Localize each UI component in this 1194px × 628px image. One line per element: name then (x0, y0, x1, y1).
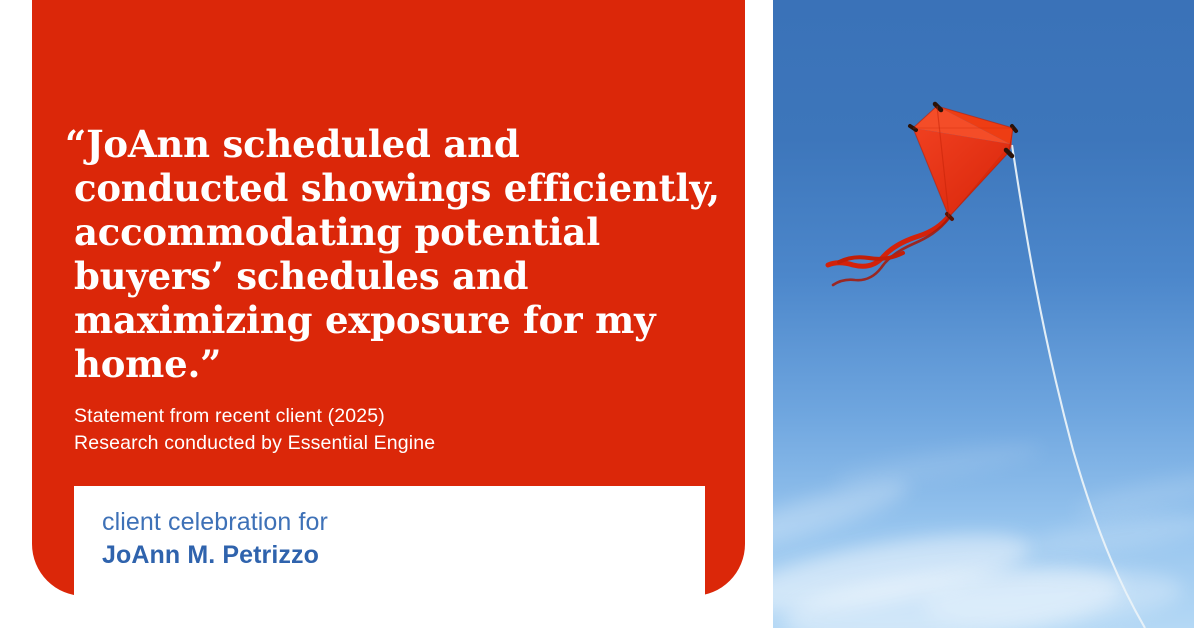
quote-block: “JoAnn scheduled and conducted showings … (74, 122, 734, 386)
testimonial-graphic: “JoAnn scheduled and conducted showings … (0, 0, 1194, 628)
attribution-block: Statement from recent client (2025) Rese… (74, 403, 714, 456)
agent-name: JoAnn M. Petrizzo (102, 539, 328, 572)
agent-name-card: client celebration for JoAnn M. Petrizzo (74, 486, 705, 628)
agent-name-card-content: client celebration for JoAnn M. Petrizzo (102, 506, 328, 572)
card-eyebrow-label: client celebration for (102, 506, 328, 539)
attribution-line-1: Statement from recent client (2025) (74, 403, 714, 430)
testimonial-quote: “JoAnn scheduled and conducted showings … (74, 122, 734, 386)
kite-photo (773, 0, 1194, 628)
attribution-line-2: Research conducted by Essential Engine (74, 430, 714, 457)
kite-icon (910, 104, 1016, 219)
kite-string-icon (1012, 145, 1145, 628)
kite-illustration (773, 0, 1194, 628)
